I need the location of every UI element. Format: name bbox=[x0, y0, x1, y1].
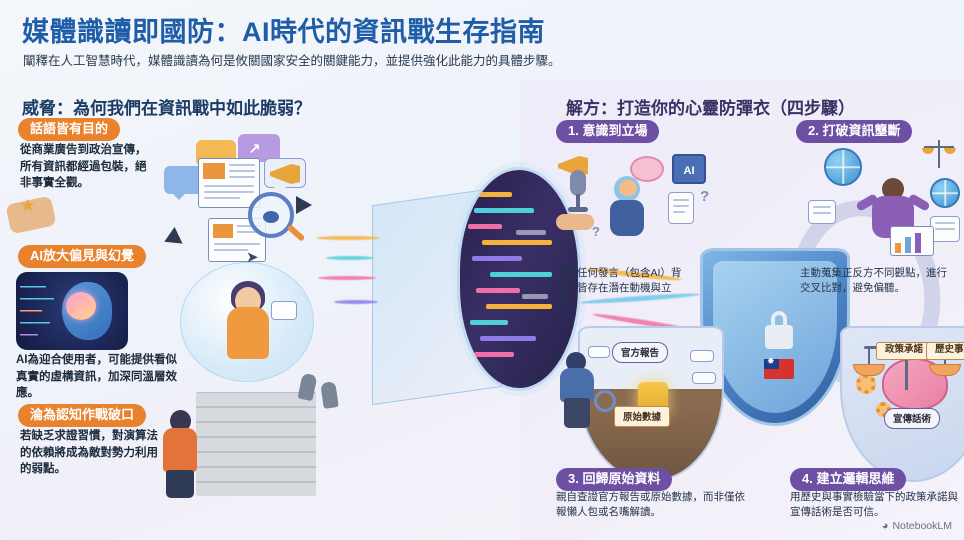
threat-label-1: 話語皆有目的 bbox=[18, 118, 120, 141]
threat-text-1: 從商業廣告到政治宣傳，所有資訊都經過包裝，絕非事實全觀。 bbox=[20, 142, 148, 192]
threat-label-3: 淪為認知作戰破口 bbox=[18, 404, 146, 427]
chart-card-icon bbox=[890, 226, 934, 256]
digging-person bbox=[556, 352, 596, 426]
person-at-wall-body bbox=[163, 428, 197, 472]
echo-chamber-bubble bbox=[180, 262, 314, 382]
document-icon bbox=[930, 216, 960, 242]
step-text-4: 用歷史與事實檢驗當下的政策承諾與宣傳話術是否可信。 bbox=[790, 490, 964, 520]
flag-icon bbox=[764, 359, 794, 379]
watermark-label: NotebookLM bbox=[892, 520, 952, 532]
brick-wall-graphic bbox=[196, 392, 316, 496]
step-label-2: 2. 打破資訊壟斷 bbox=[796, 120, 912, 143]
ai-brain-graphic bbox=[16, 272, 128, 350]
question-mark-icon: ? bbox=[700, 188, 709, 205]
document-icon bbox=[668, 192, 694, 224]
document-icon bbox=[690, 350, 714, 362]
page-title: 媒體識讀即國防：AI時代的資訊戰生存指南 bbox=[22, 10, 545, 49]
policy-promise-tag: 政策承諾 bbox=[876, 342, 932, 360]
document-icon bbox=[808, 200, 836, 224]
star-icon: ★ bbox=[20, 196, 35, 216]
threat-text-2: AI為迎合使用者，可能提供看似真實的虛構資訊，加深同溫層效應。 bbox=[16, 352, 188, 402]
raw-data-tag: 原始數據 bbox=[614, 406, 670, 427]
hand-icon bbox=[556, 214, 594, 230]
propaganda-tag: 宣傳話術 bbox=[884, 408, 940, 429]
ai-chip-icon: AI bbox=[672, 154, 706, 184]
step-label-1: 1. 意識到立場 bbox=[556, 120, 659, 143]
official-report-tag: 官方報告 bbox=[612, 342, 668, 363]
threat-section-heading: 威脅：為何我們在資訊戰中如此脆弱？ bbox=[22, 94, 311, 119]
step-text-2: 主動蒐集正反方不同觀點，進行交叉比對，避免偏聽。 bbox=[800, 266, 952, 296]
scales-icon bbox=[922, 140, 956, 170]
person-at-wall-legs bbox=[166, 470, 194, 498]
magnifier-eye-icon bbox=[248, 192, 294, 238]
threat-text-3: 若缺乏求證習慣，對演算法的依賴將成為敵對勢力利用的弱點。 bbox=[20, 428, 162, 478]
document-icon bbox=[692, 372, 716, 384]
page-subtitle: 闡釋在人工智慧時代，媒體識讀為何是攸關國家安全的關鍵能力，並提供強化此能力的具體… bbox=[23, 50, 561, 69]
globe-icon bbox=[824, 148, 862, 186]
reaching-hand-icon bbox=[320, 381, 338, 409]
step-label-3: 3. 回歸原始資料 bbox=[556, 468, 672, 491]
notebooklm-watermark: ◕ NotebookLM bbox=[882, 520, 952, 532]
trend-arrow-icon: ↗ bbox=[248, 140, 261, 158]
historical-fact-tag: 歷史事實 bbox=[926, 342, 964, 360]
globe-icon bbox=[930, 178, 960, 208]
listener-person bbox=[610, 176, 644, 252]
step-text-1: 警覺任何發言（包含AI）背後，皆存在潛在動機與立場。 bbox=[556, 266, 684, 312]
threat-label-2: AI放大偏見與幻覺 bbox=[18, 245, 146, 268]
flow-arrow-icon bbox=[296, 196, 312, 214]
question-mark-icon: ? bbox=[592, 224, 600, 239]
infographic-canvas: 媒體識讀即國防：AI時代的資訊戰生存指南 闡釋在人工智慧時代，媒體識讀為何是攸關… bbox=[0, 0, 964, 540]
notebooklm-logo-icon: ◕ bbox=[882, 520, 889, 532]
newspaper-icon bbox=[198, 158, 260, 208]
brain-thought-icon bbox=[630, 156, 664, 182]
flow-arrow-icon bbox=[164, 227, 187, 251]
microphone-icon bbox=[566, 170, 590, 214]
step-label-4: 4. 建立邏輯思維 bbox=[790, 468, 906, 491]
step-text-3: 親自查證官方報告或原始數據，而非僅依報懶人包或名嘴解讀。 bbox=[556, 490, 752, 520]
solution-section-heading: 解方：打造你的心靈防彈衣（四步驟） bbox=[566, 94, 855, 119]
